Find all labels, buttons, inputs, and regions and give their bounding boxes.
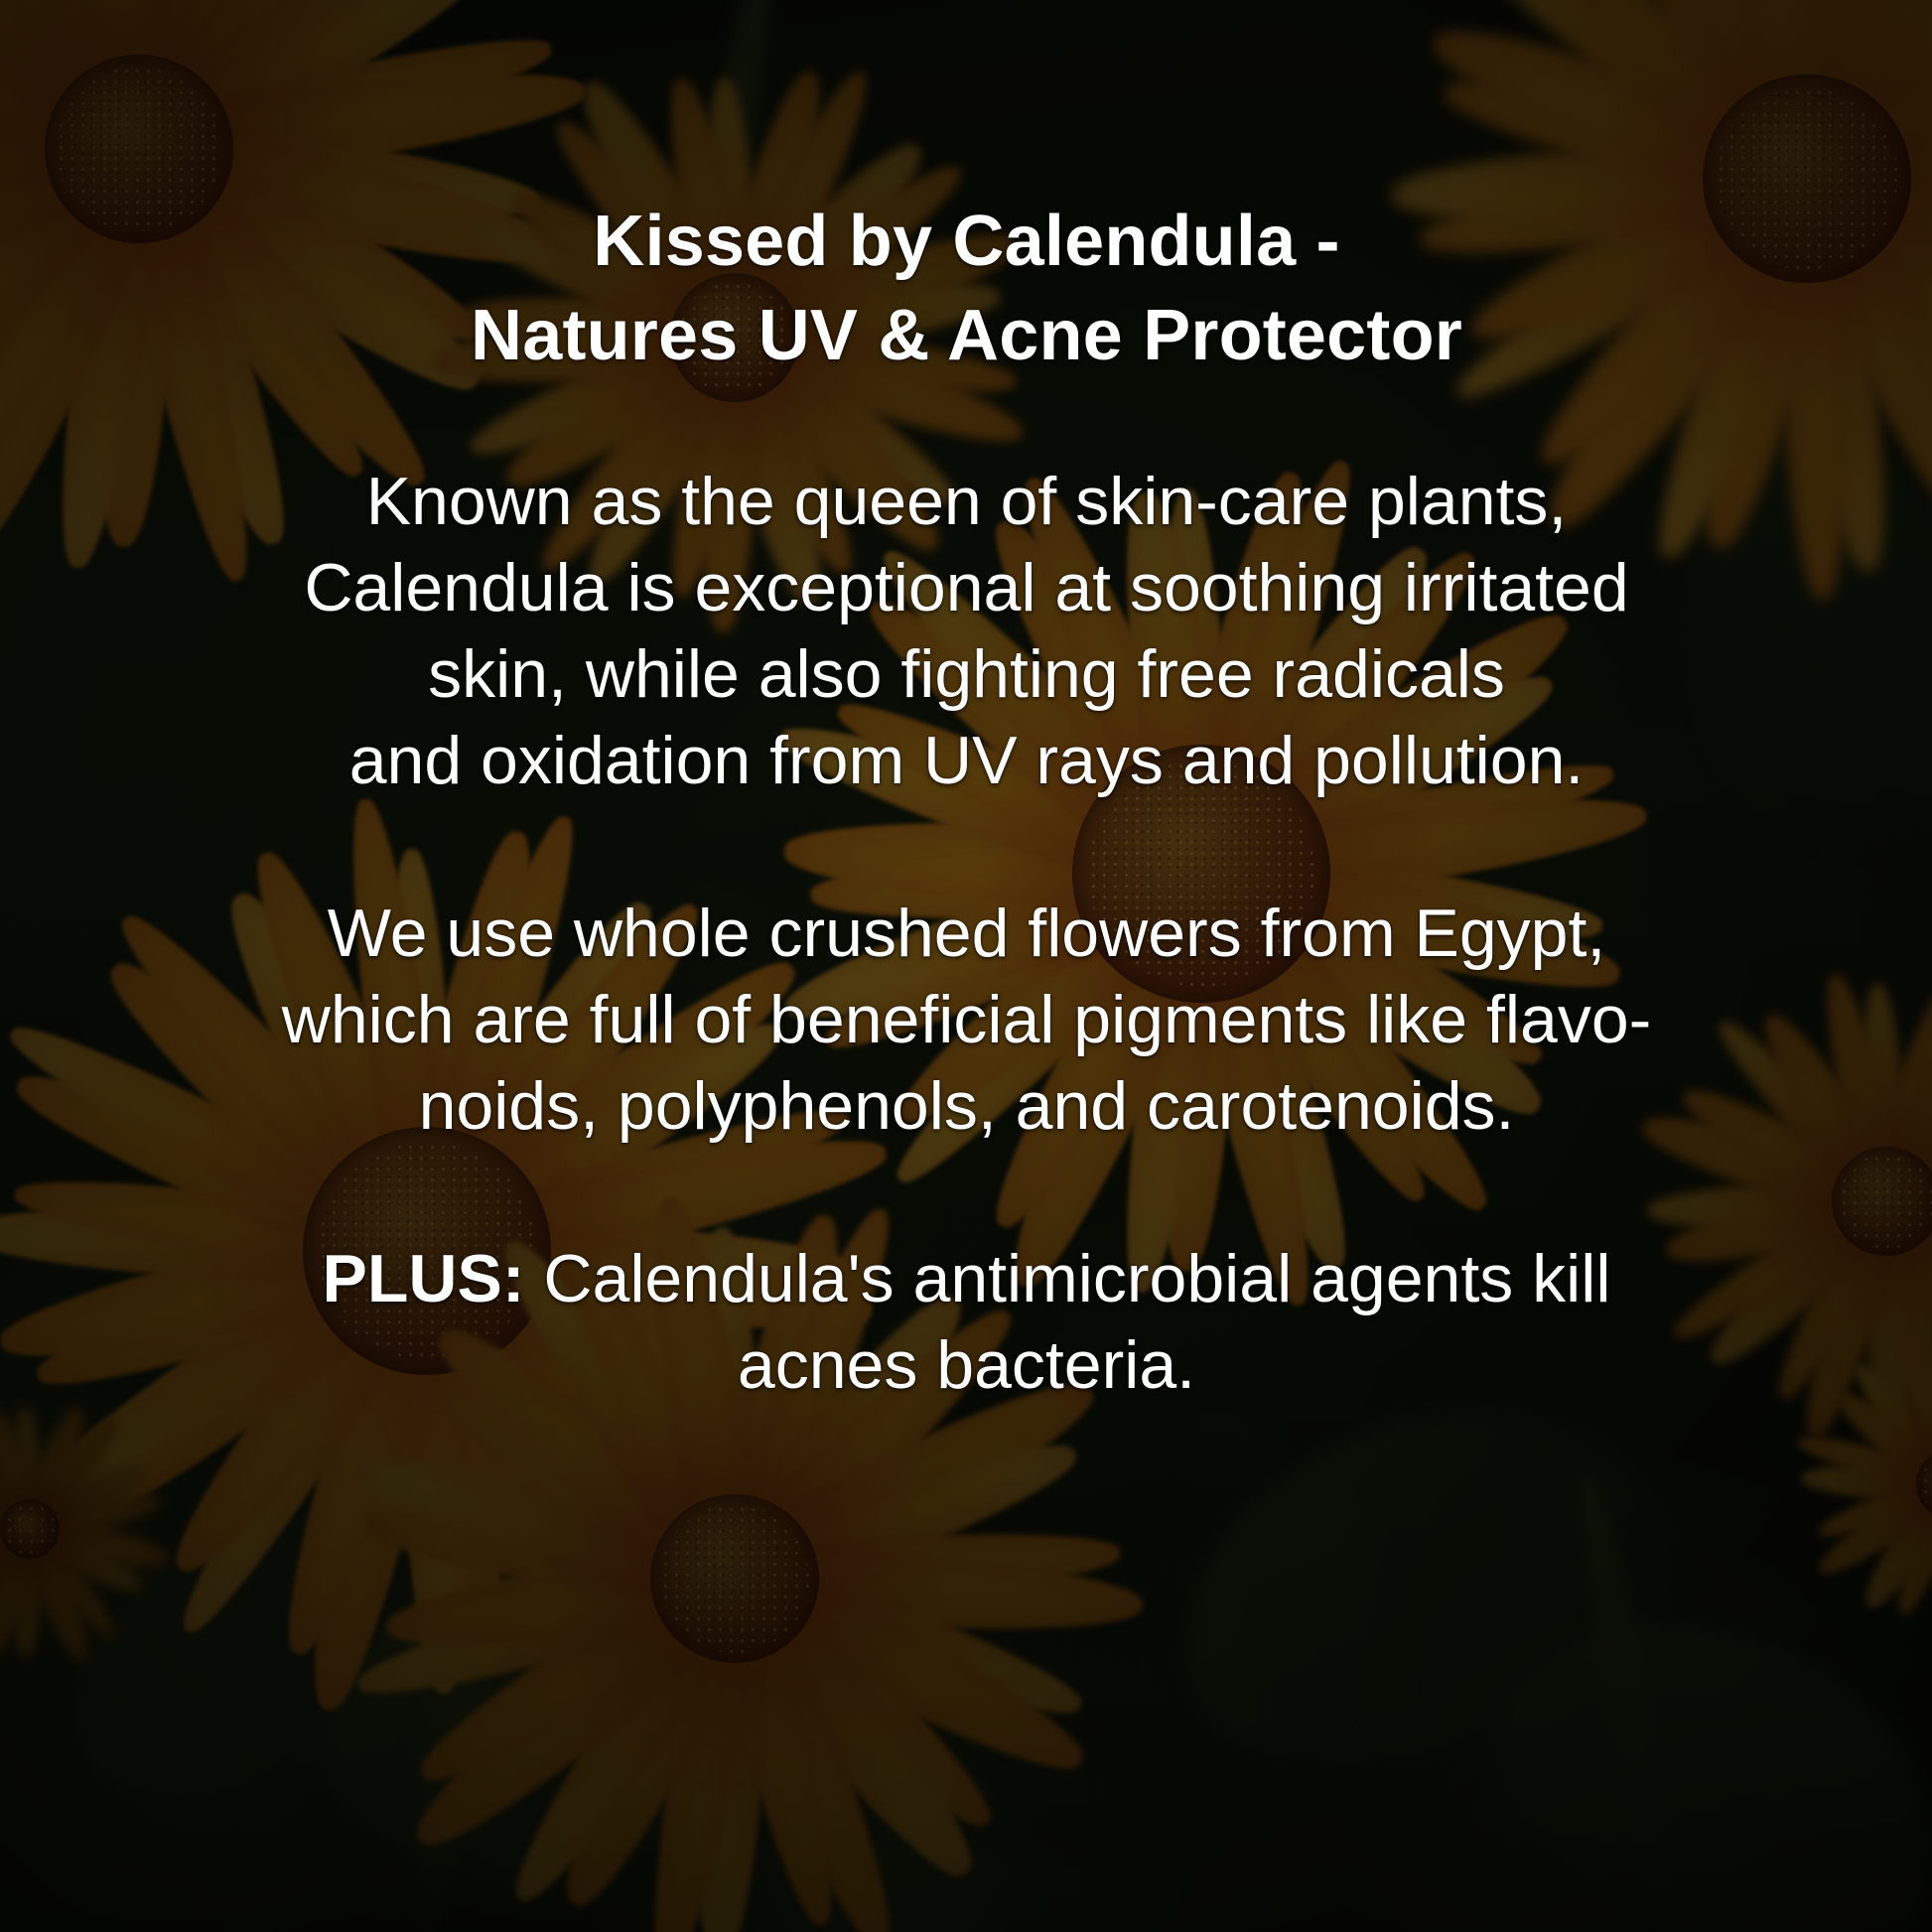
text-content: Kissed by Calendula - Natures UV & Acne …: [84, 0, 1849, 1932]
page-title: Kissed by Calendula - Natures UV & Acne …: [471, 195, 1462, 383]
poster-canvas: Kissed by Calendula - Natures UV & Acne …: [0, 0, 1932, 1932]
paragraph-1: Known as the queen of skin-care plants, …: [304, 459, 1628, 804]
plus-label: PLUS:: [323, 1241, 525, 1316]
plus-body: Calendula's antimicrobial agents kill ac…: [525, 1241, 1611, 1403]
paragraph-3: PLUS: Calendula's antimicrobial agents k…: [323, 1236, 1611, 1409]
paragraph-2: We use whole crushed flowers from Egypt,…: [282, 891, 1652, 1150]
